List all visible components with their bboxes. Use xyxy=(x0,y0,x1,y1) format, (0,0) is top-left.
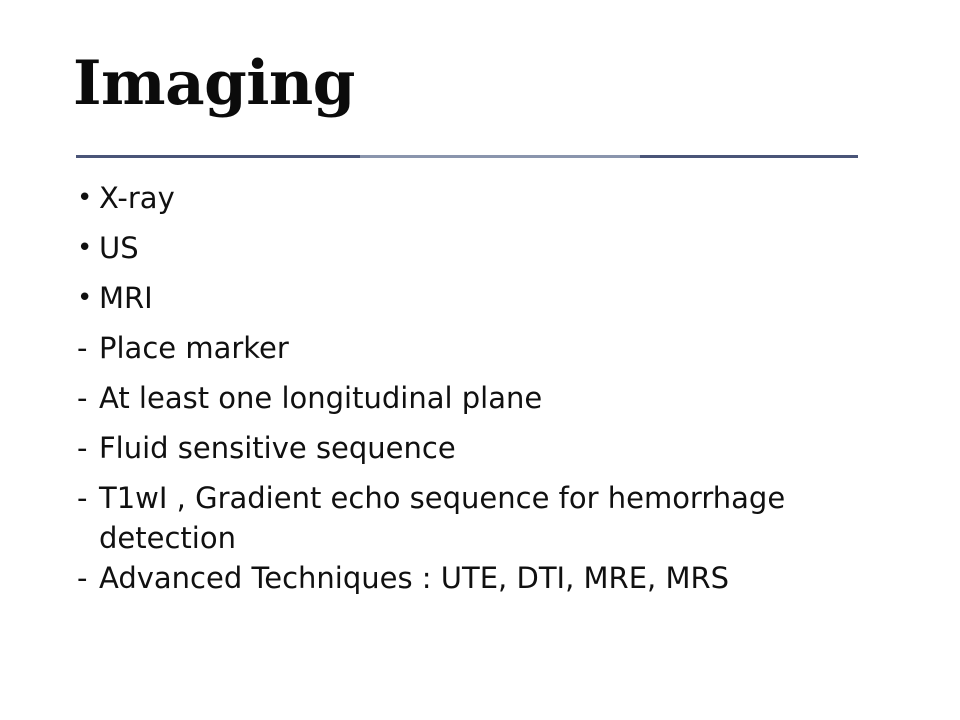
list-item: -At least one longitudinal plane xyxy=(76,378,906,428)
list-item-label: Advanced Techniques : UTE, DTI, MRE, MRS xyxy=(99,558,799,598)
list-item: -Place marker xyxy=(76,328,906,378)
dash-marker-icon: - xyxy=(76,378,99,418)
list-item-label: US xyxy=(99,228,799,268)
list-item: •US xyxy=(76,228,906,278)
list-item: -T1wI , Gradient echo sequence for hemor… xyxy=(76,478,906,558)
list-item-label: Place marker xyxy=(99,328,799,368)
page-title: Imaging xyxy=(73,52,355,116)
dash-marker-icon: - xyxy=(76,428,99,468)
list-item-label: At least one longitudinal plane xyxy=(99,378,799,418)
bullet-list: •X-ray•US•MRI-Place marker-At least one … xyxy=(76,178,906,608)
bullet-marker-icon: • xyxy=(76,228,99,268)
list-item: •MRI xyxy=(76,278,906,328)
list-item-label: Fluid sensitive sequence xyxy=(99,428,799,468)
divider-segment-right xyxy=(640,155,858,158)
dash-marker-icon: - xyxy=(76,558,99,598)
dash-marker-icon: - xyxy=(76,478,99,518)
list-item: -Advanced Techniques : UTE, DTI, MRE, MR… xyxy=(76,558,906,608)
list-item-label: X-ray xyxy=(99,178,799,218)
list-item-label: MRI xyxy=(99,278,799,318)
dash-marker-icon: - xyxy=(76,328,99,368)
divider-segment-middle xyxy=(360,155,640,158)
list-item: -Fluid sensitive sequence xyxy=(76,428,906,478)
slide-canvas: Imaging •X-ray•US•MRI-Place marker-At le… xyxy=(0,0,960,720)
title-divider-rule xyxy=(76,155,858,158)
bullet-marker-icon: • xyxy=(76,278,99,318)
divider-segment-left xyxy=(76,155,360,158)
bullet-marker-icon: • xyxy=(76,178,99,218)
list-item-label: T1wI , Gradient echo sequence for hemorr… xyxy=(99,478,799,558)
list-item: •X-ray xyxy=(76,178,906,228)
